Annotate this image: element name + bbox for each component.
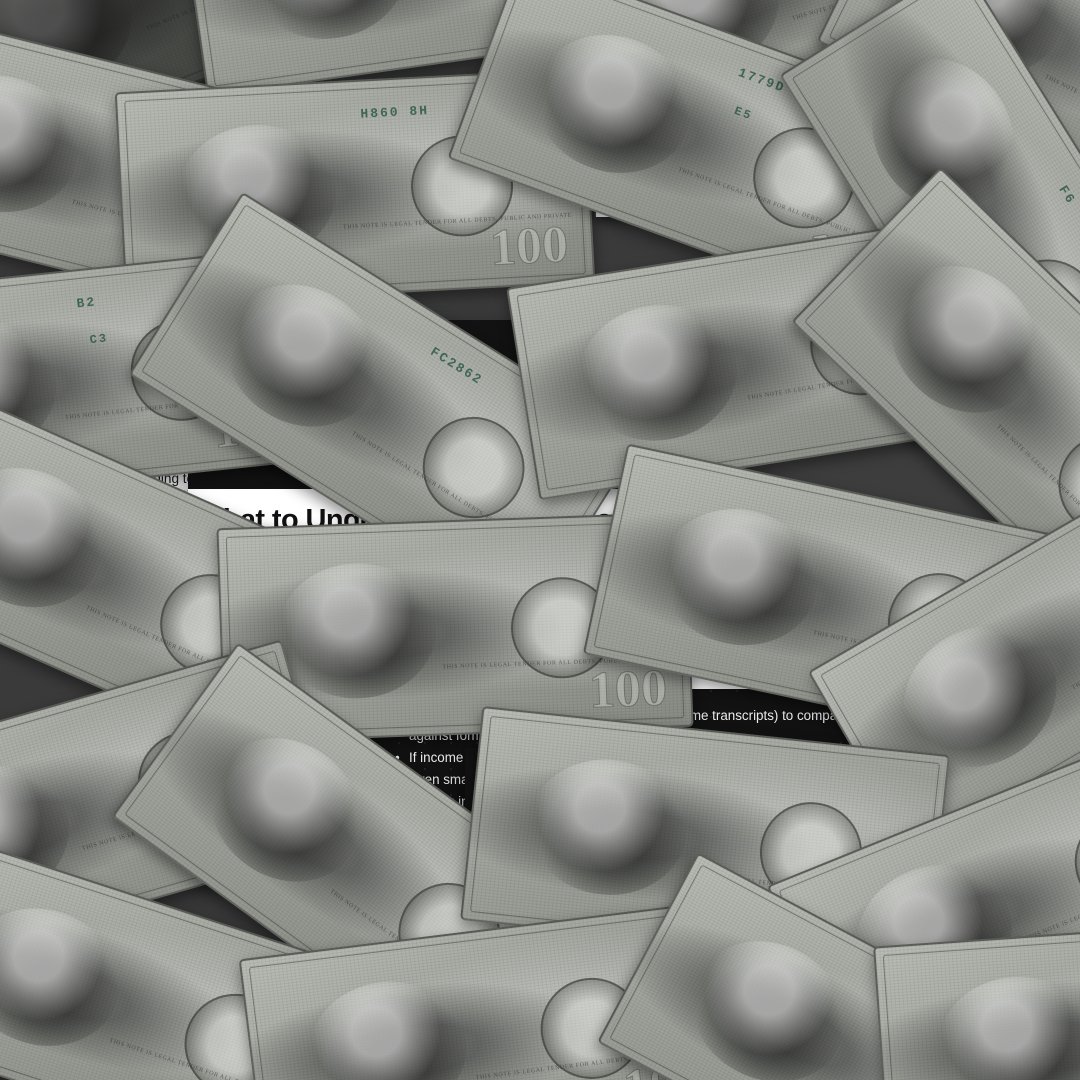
- bill-serial-number: F6: [1055, 183, 1078, 208]
- bill-serial-number: B2: [76, 295, 97, 312]
- bill-serial-number: E5: [732, 104, 754, 123]
- denomination-numeral: 100: [489, 215, 570, 278]
- bill-serial-number: C3: [89, 332, 109, 348]
- bill-serial-number: FC2862: [427, 344, 485, 388]
- money-background: 100HE1778178HL 25643802THIS NOTE IS LEGA…: [0, 0, 1080, 1080]
- bill-fine-print: THIS NOTE IS LEGAL TENDER FOR ALL DEBTS,…: [1026, 850, 1080, 941]
- treasury-seal-icon: [1059, 795, 1080, 927]
- bill-serial-number: 1779D: [736, 65, 787, 96]
- bill-serial-number: H860 8H: [360, 103, 429, 122]
- bill-fine-print: THIS NOTE IS LEGAL TENDER FOR ALL DEBTS,…: [1071, 571, 1080, 691]
